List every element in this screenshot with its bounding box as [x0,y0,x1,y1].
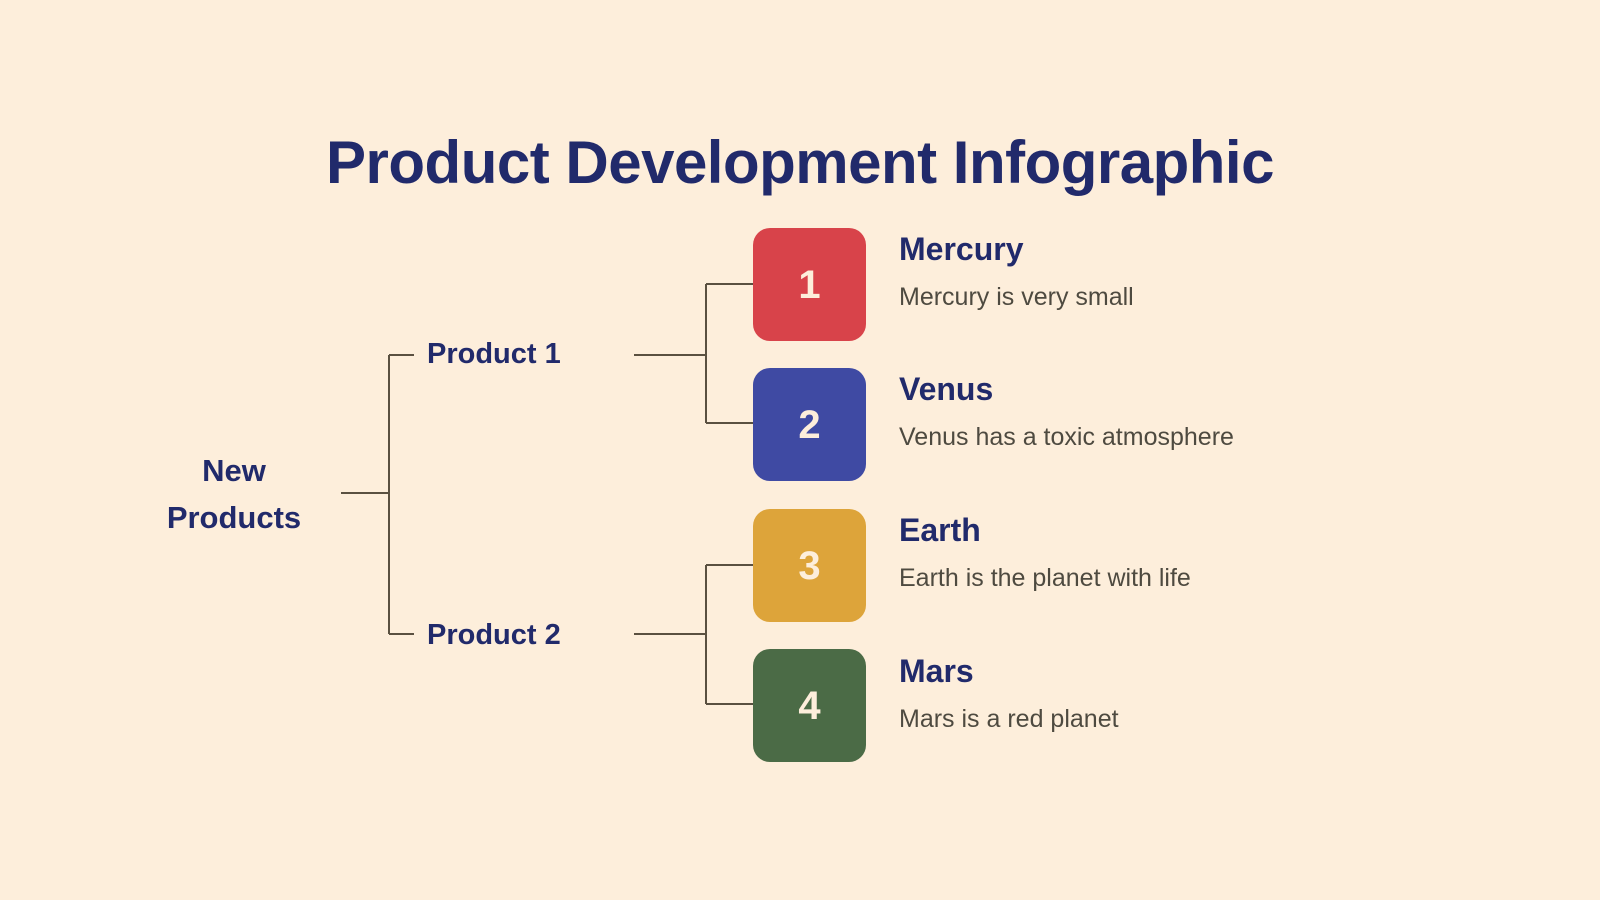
leaf-number-2: 2 [798,405,820,445]
leaf-number-1: 1 [798,265,820,305]
branch-label-product-2[interactable]: Product 2 [427,619,561,652]
leaf-text-earth: Earth Earth is the planet with life [899,512,1519,593]
leaf-text-mars: Mars Mars is a red planet [899,653,1519,734]
leaf-title-earth: Earth [899,512,1519,549]
leaf-card-earth[interactable]: 3 [753,509,866,622]
infographic-canvas: Product Development Infographic New Prod… [0,0,1600,900]
leaf-title-mercury: Mercury [899,231,1519,268]
root-node-label-line-1: New [110,448,358,495]
page-title: Product Development Infographic [0,128,1600,197]
branch-label-product-1[interactable]: Product 1 [427,338,561,371]
root-node[interactable]: New Products [110,448,358,541]
leaf-description-mars: Mars is a red planet [899,704,1519,734]
leaf-card-mars[interactable]: 4 [753,649,866,762]
leaf-title-venus: Venus [899,371,1519,408]
leaf-card-venus[interactable]: 2 [753,368,866,481]
leaf-text-venus: Venus Venus has a toxic atmosphere [899,371,1519,452]
leaf-number-4: 4 [798,686,820,726]
leaf-description-venus: Venus has a toxic atmosphere [899,422,1519,452]
leaf-number-3: 3 [798,546,820,586]
leaf-title-mars: Mars [899,653,1519,690]
leaf-card-mercury[interactable]: 1 [753,228,866,341]
leaf-text-mercury: Mercury Mercury is very small [899,231,1519,312]
leaf-description-mercury: Mercury is very small [899,282,1519,312]
leaf-description-earth: Earth is the planet with life [899,563,1519,593]
root-node-label-line-2: Products [110,495,358,542]
